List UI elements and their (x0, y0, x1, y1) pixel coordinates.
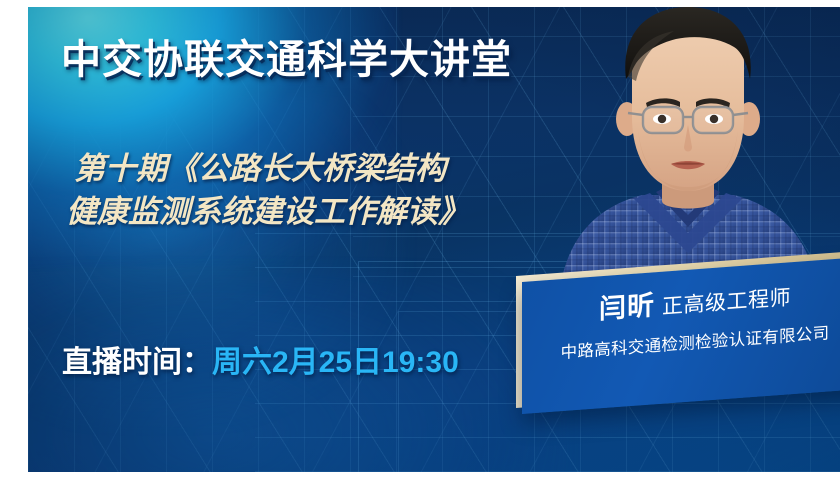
session-subtitle: 第十期《公路长大桥梁结构 健康监测系统建设工作解读》 (74, 147, 594, 234)
live-time: 直播时间：周六2月25日19:30 (62, 337, 459, 381)
live-time-label: 直播时间： (62, 346, 212, 379)
session-subtitle-line-1: 第十期《公路长大桥梁结构 (74, 151, 446, 186)
page-title: 中交协联交通科学大讲堂 (61, 27, 512, 85)
live-seminar-poster: 中交协联交通科学大讲堂 第十期《公路长大桥梁结构 健康监测系统建设工作解读》 直… (28, 7, 840, 472)
speaker-panel (522, 256, 840, 414)
session-subtitle-line-2: 健康监测系统建设工作解读》 (66, 190, 594, 233)
live-time-value: 周六2月25日19:30 (212, 346, 459, 379)
